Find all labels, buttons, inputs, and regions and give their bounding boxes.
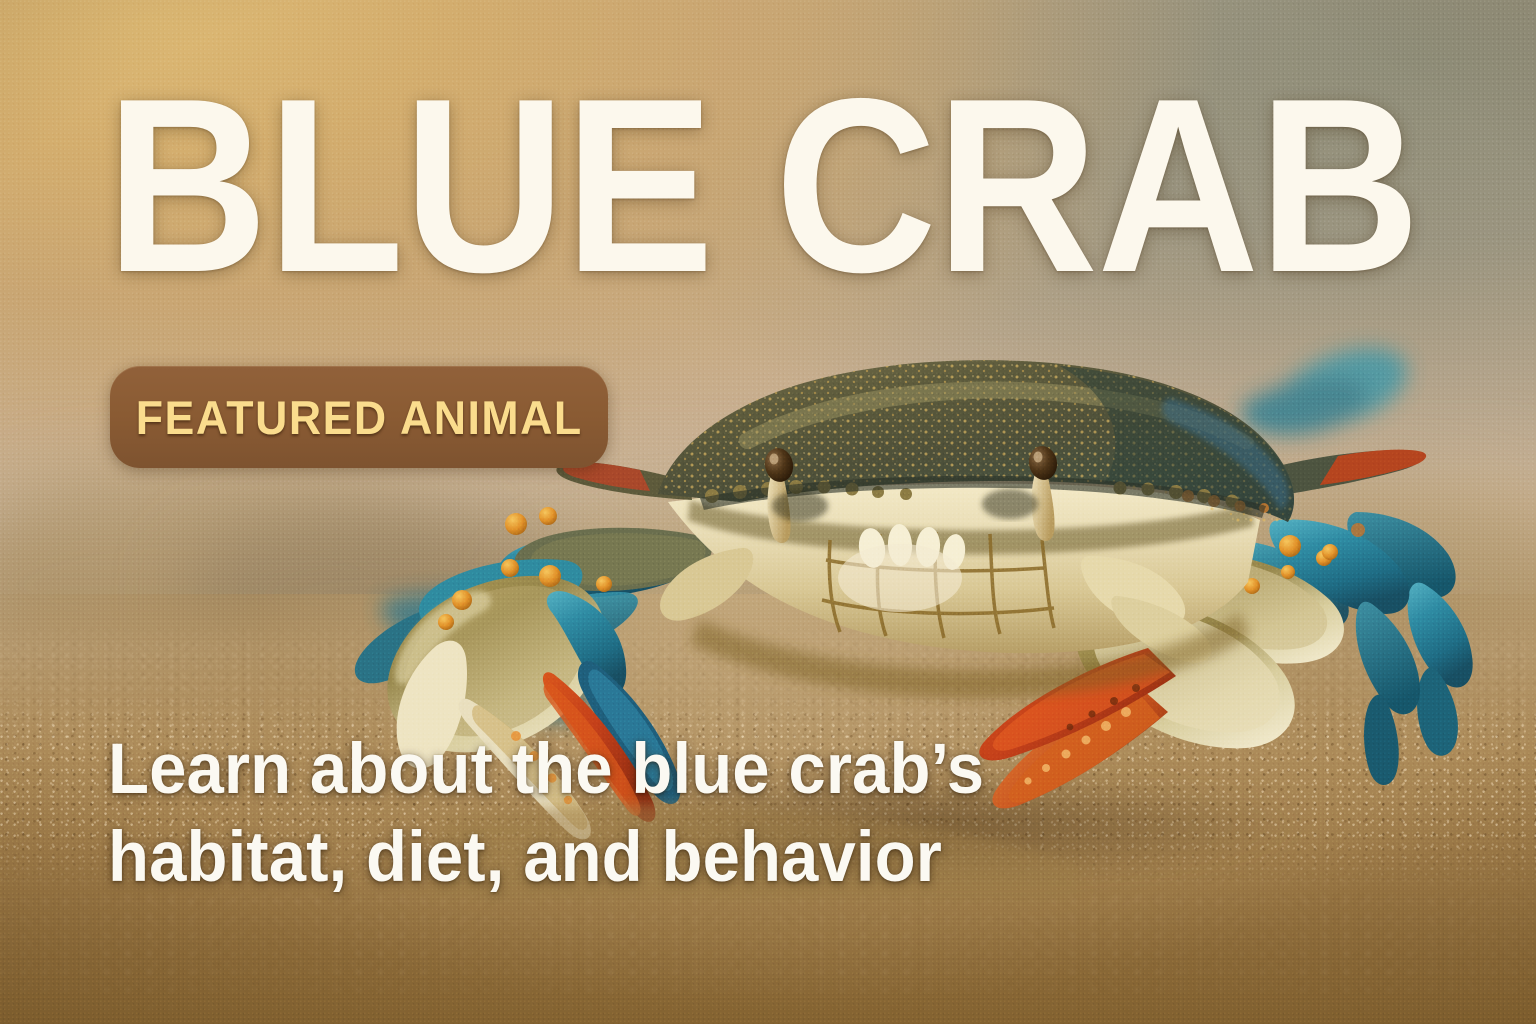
subtitle-line-2: habitat, diet, and behavior [108, 814, 984, 902]
status-badge: FEATURED ANIMAL [110, 366, 608, 468]
text-overlay: BLUE CRAB FEATURED ANIMAL Learn about th… [0, 0, 1536, 1024]
subtitle-line-1: Learn about the blue crab’s [108, 726, 984, 814]
page-title: BLUE CRAB [106, 86, 1420, 284]
hero-banner: BLUE CRAB FEATURED ANIMAL Learn about th… [0, 0, 1536, 1024]
subtitle: Learn about the blue crab’s habitat, die… [108, 726, 984, 902]
status-badge-label: FEATURED ANIMAL [136, 390, 583, 445]
